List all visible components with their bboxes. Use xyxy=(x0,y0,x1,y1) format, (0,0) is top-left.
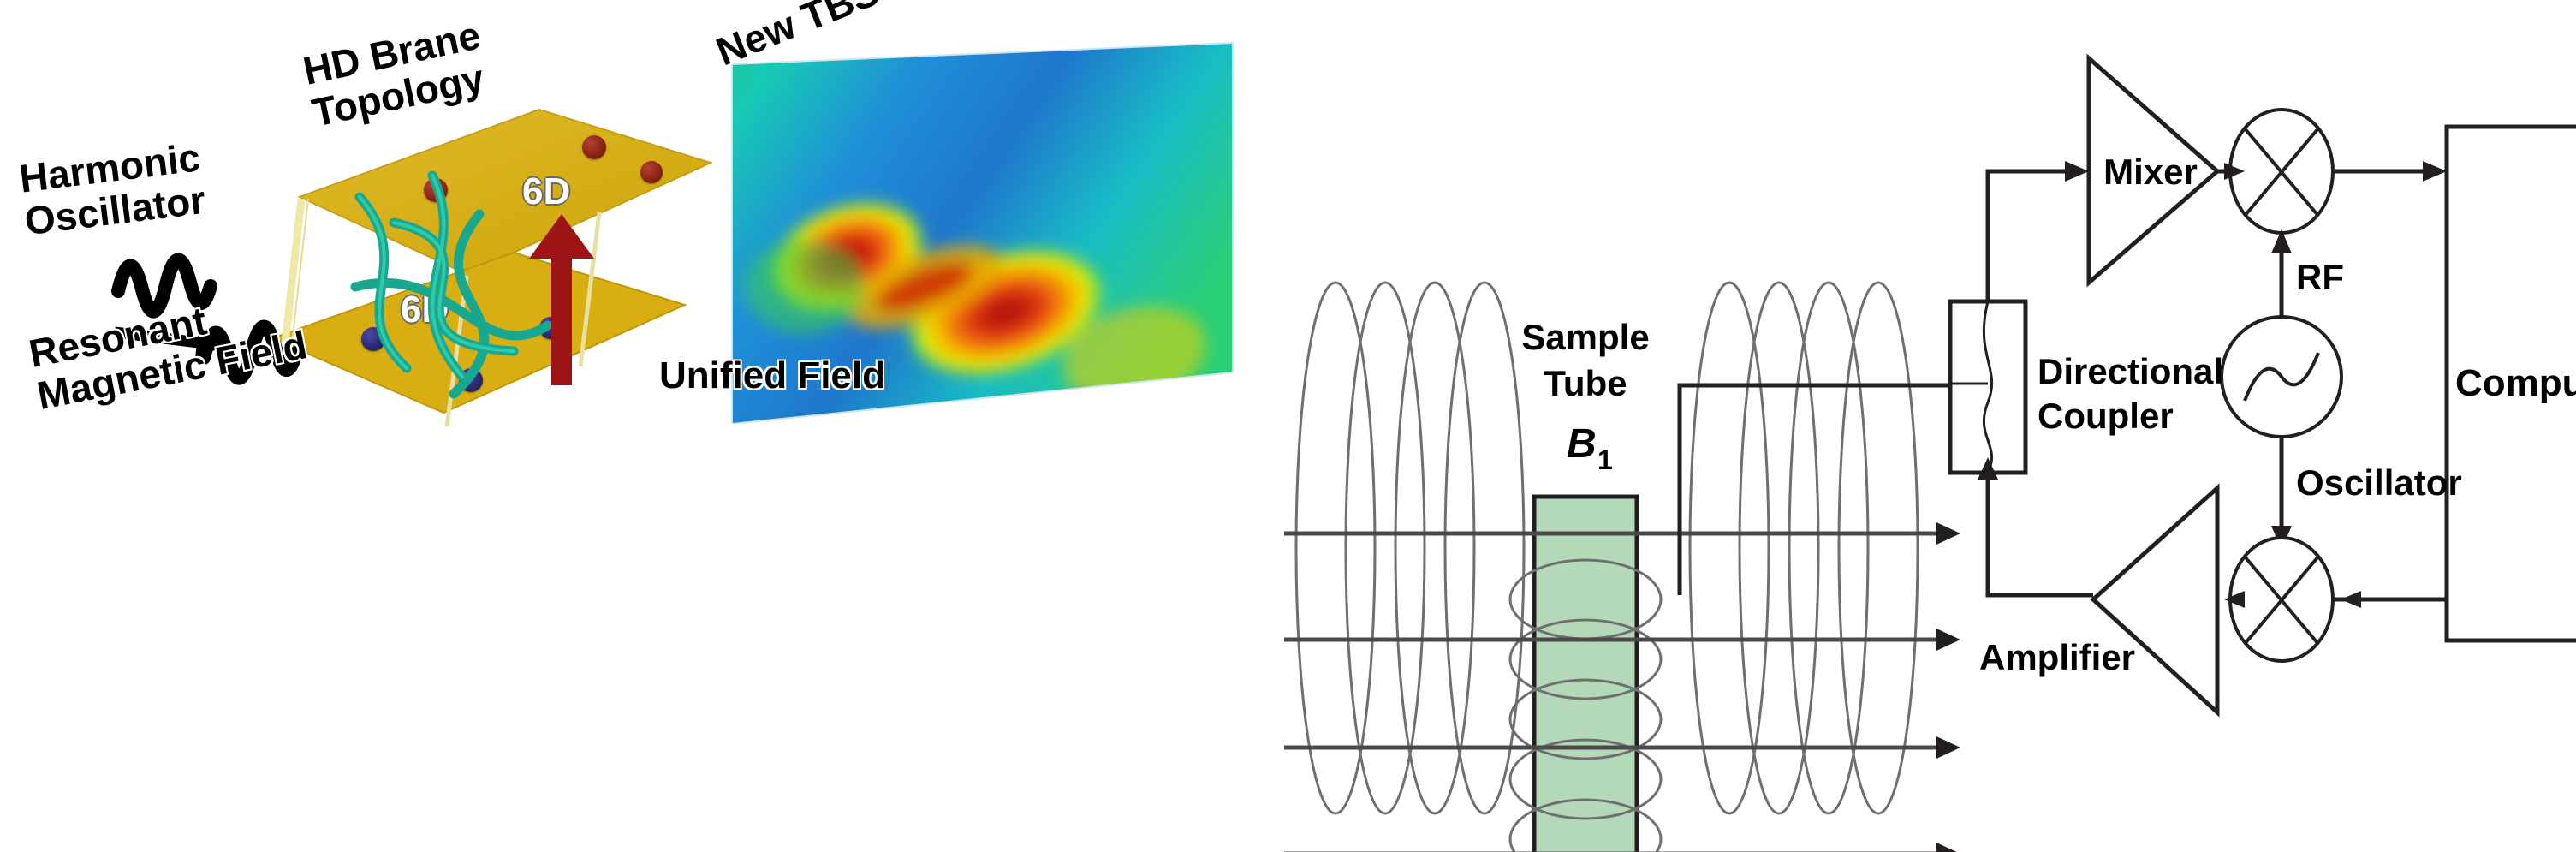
computer-label: Computer xyxy=(2455,362,2576,404)
b1-label: B xyxy=(1567,421,1597,467)
left-panel-brane-topology: 6D 6D xyxy=(0,0,1284,852)
sample-tube-label-line2: Tube xyxy=(1544,363,1627,403)
sample-tube-label-line1: Sample xyxy=(1521,317,1649,357)
b1-sublabel: 1 xyxy=(1597,444,1613,475)
harmonic-oscillator-label: HarmonicOscillator xyxy=(17,136,208,242)
right-panel-nmr-spectrometer: Sample Tube B 1 B 0 H 2 RF Coil Static F… xyxy=(1284,0,2576,852)
rf-coil-left xyxy=(1296,283,1524,813)
figure-root: 6D 6D xyxy=(0,0,2576,852)
directional-coupler-label-line1: Directional xyxy=(2038,351,2223,391)
mixer-label: Mixer xyxy=(2103,152,2198,192)
bottom-mixer-circle xyxy=(2230,538,2333,661)
directional-coupler-label-line2: Coupler xyxy=(2038,396,2174,436)
static-field-coil-right xyxy=(1690,283,1918,813)
rf-label: RF xyxy=(2296,257,2344,297)
oscillator-symbol xyxy=(2222,317,2341,437)
top-mixer-circle xyxy=(2230,110,2333,233)
b0-arrowheads xyxy=(1936,522,1960,852)
oscillator-label: Oscillator xyxy=(2296,462,2462,503)
amplifier-symbol xyxy=(2093,488,2217,712)
nmr-block-diagram: Sample Tube B 1 B 0 H 2 RF Coil Static F… xyxy=(1284,0,2576,852)
unified-field-label: Unified Field xyxy=(659,355,885,396)
amplifier-label: Amplifier xyxy=(1979,637,2135,677)
directional-coupler-symbol xyxy=(1950,301,2026,473)
sample-coil-lead xyxy=(1680,385,1973,595)
unified-field-arrow xyxy=(514,214,616,394)
